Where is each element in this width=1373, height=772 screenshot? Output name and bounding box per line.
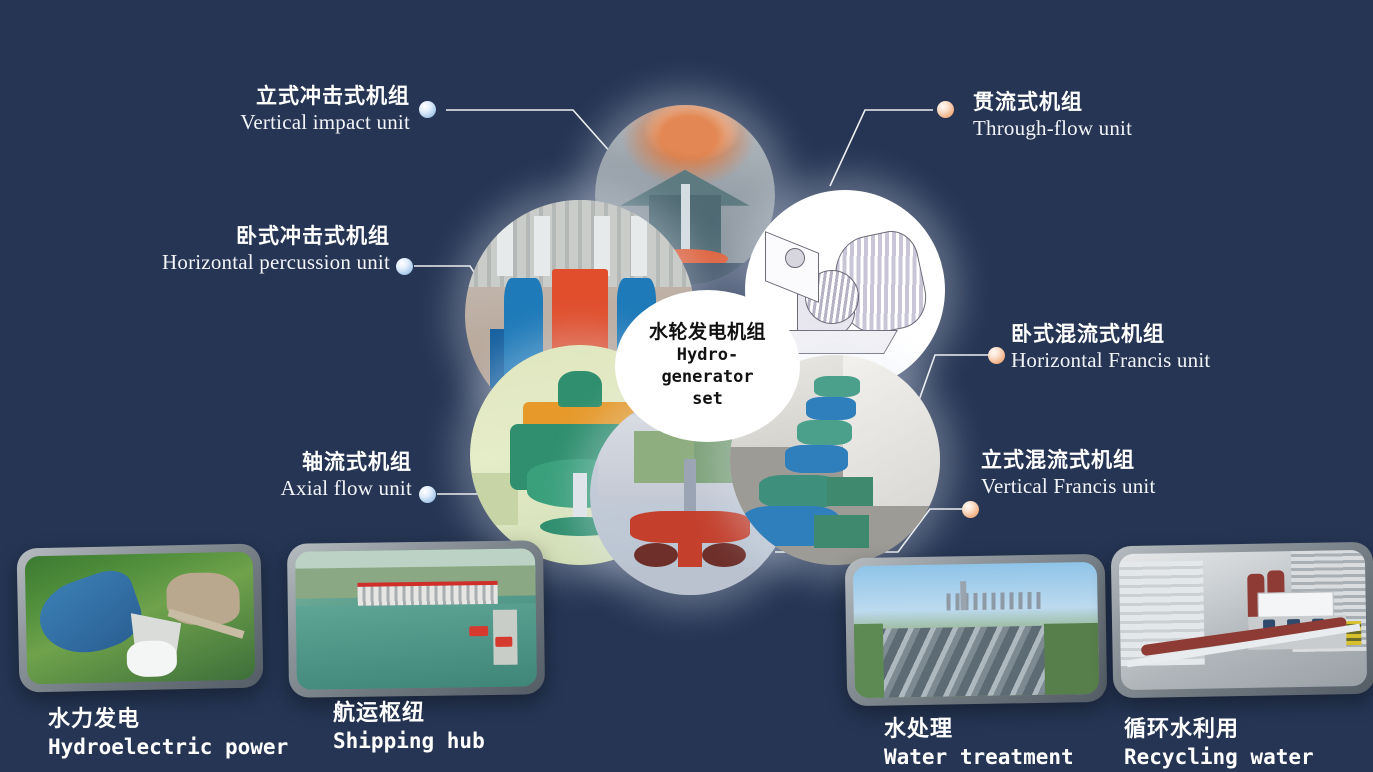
label-vertical-francis[interactable]: 立式混流式机组 Vertical Francis unit <box>981 448 1341 499</box>
label-axial-flow-cn: 轴流式机组 <box>60 450 412 476</box>
card-recycling-water-image <box>1119 550 1367 690</box>
label-axial-flow[interactable]: 轴流式机组 Axial flow unit <box>60 450 412 501</box>
center-title-en-line3: set <box>692 389 723 410</box>
card-shipping-hub-image <box>295 548 537 689</box>
label-through-flow-en: Through-flow unit <box>973 116 1333 142</box>
card-shipping-hub[interactable] <box>287 540 545 698</box>
center-title-en-line2: generator <box>661 367 753 388</box>
label-horizontal-francis[interactable]: 卧式混流式机组 Horizontal Francis unit <box>1011 322 1371 373</box>
label-through-flow[interactable]: 贯流式机组 Through-flow unit <box>973 90 1333 141</box>
caption-recycling-water-en: Recycling water <box>1124 744 1314 771</box>
card-hydroelectric-power-image <box>25 552 256 685</box>
bullet-dot-through-flow[interactable] <box>937 101 954 118</box>
label-vertical-impact-en: Vertical impact unit <box>60 110 410 136</box>
bullet-dot-vertical-impact[interactable] <box>419 101 436 118</box>
label-axial-flow-en: Axial flow unit <box>60 476 412 502</box>
caption-shipping-hub-cn: 航运枢纽 <box>333 700 485 728</box>
bullet-dot-axial-flow[interactable] <box>419 486 436 503</box>
label-vertical-francis-cn: 立式混流式机组 <box>981 448 1341 474</box>
caption-water-treatment-cn: 水处理 <box>884 716 1074 744</box>
label-vertical-francis-en: Vertical Francis unit <box>981 474 1341 500</box>
caption-hydroelectric-power: 水力发电 Hydroelectric power <box>48 706 288 761</box>
caption-water-treatment-en: Water treatment <box>884 744 1074 771</box>
label-horizontal-percussion[interactable]: 卧式冲击式机组 Horizontal percussion unit <box>30 224 390 275</box>
caption-hydroelectric-power-en: Hydroelectric power <box>48 734 288 761</box>
caption-recycling-water: 循环水利用 Recycling water <box>1124 716 1314 771</box>
card-recycling-water[interactable] <box>1111 542 1373 699</box>
center-title-cn: 水轮发电机组 <box>649 321 766 343</box>
label-horizontal-francis-en: Horizontal Francis unit <box>1011 348 1371 374</box>
card-hydroelectric-power[interactable] <box>17 543 264 692</box>
caption-hydroelectric-power-cn: 水力发电 <box>48 706 288 734</box>
caption-recycling-water-cn: 循环水利用 <box>1124 716 1314 744</box>
label-horizontal-percussion-en: Horizontal percussion unit <box>30 250 390 276</box>
center-hub: 水轮发电机组 Hydro- generator set <box>615 290 800 442</box>
caption-water-treatment: 水处理 Water treatment <box>884 716 1074 771</box>
infographic-canvas: 水轮发电机组 Hydro- generator set 立式冲击式机组 Vert… <box>0 0 1373 772</box>
label-horizontal-percussion-cn: 卧式冲击式机组 <box>30 224 390 250</box>
caption-shipping-hub: 航运枢纽 Shipping hub <box>333 700 485 755</box>
label-through-flow-cn: 贯流式机组 <box>973 90 1333 116</box>
card-water-treatment[interactable] <box>845 554 1108 707</box>
label-horizontal-francis-cn: 卧式混流式机组 <box>1011 322 1371 348</box>
label-vertical-impact-cn: 立式冲击式机组 <box>60 84 410 110</box>
card-water-treatment-image <box>853 562 1099 698</box>
center-title-en-line1: Hydro- <box>677 345 738 366</box>
label-vertical-impact[interactable]: 立式冲击式机组 Vertical impact unit <box>60 84 410 135</box>
bullet-dot-horizontal-francis[interactable] <box>988 347 1005 364</box>
caption-shipping-hub-en: Shipping hub <box>333 728 485 755</box>
bullet-dot-vertical-francis[interactable] <box>962 501 979 518</box>
bullet-dot-horizontal-percussion[interactable] <box>396 258 413 275</box>
